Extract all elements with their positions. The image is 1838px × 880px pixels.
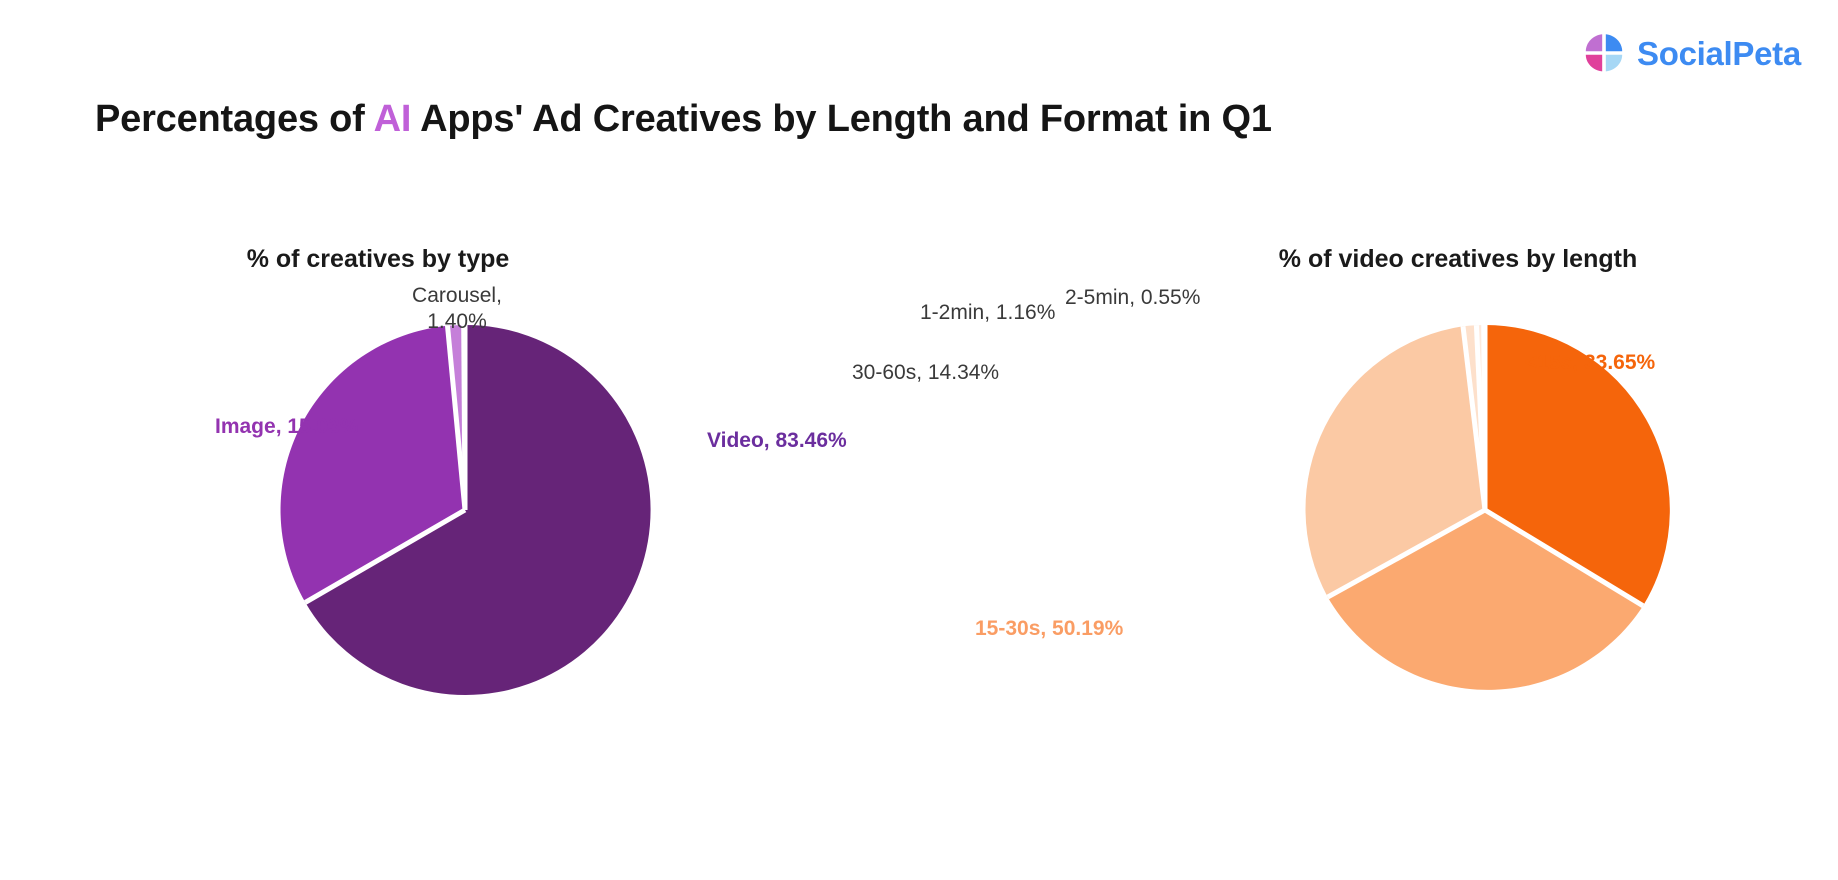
chart-panel-video-by-length: % of video creatives by length — [930, 0, 1810, 880]
label-2-5min: 2-5min, 0.55% — [1065, 285, 1200, 311]
left-pie-chart — [275, 320, 655, 700]
chart-panel-creatives-by-type: % of creatives by type Carousel,1.40 — [130, 0, 910, 880]
label-video: Video, 83.46% — [707, 428, 847, 454]
label-lt15s: <15s, 33.65% — [1525, 350, 1655, 376]
label-1-2min: 1-2min, 1.16% — [920, 300, 1055, 326]
left-chart-title: % of creatives by type — [0, 245, 768, 274]
label-carousel-line2: 1.40% — [427, 310, 487, 333]
left-pie-svg — [275, 320, 655, 700]
right-pie-svg — [1295, 320, 1675, 700]
label-carousel-line1: Carousel, — [412, 284, 502, 307]
chart-page: SocialPeta Percentages of AI Apps' Ad Cr… — [0, 0, 1838, 880]
label-carousel: Carousel,1.40% — [372, 283, 542, 336]
label-image: Image, 15.03% — [215, 414, 359, 440]
right-chart-title: % of video creatives by length — [1018, 245, 1838, 274]
right-pie-chart — [930, 320, 1675, 700]
label-30-60s: 30-60s, 14.34% — [852, 360, 999, 386]
label-15-30s: 15-30s, 50.19% — [975, 616, 1123, 642]
